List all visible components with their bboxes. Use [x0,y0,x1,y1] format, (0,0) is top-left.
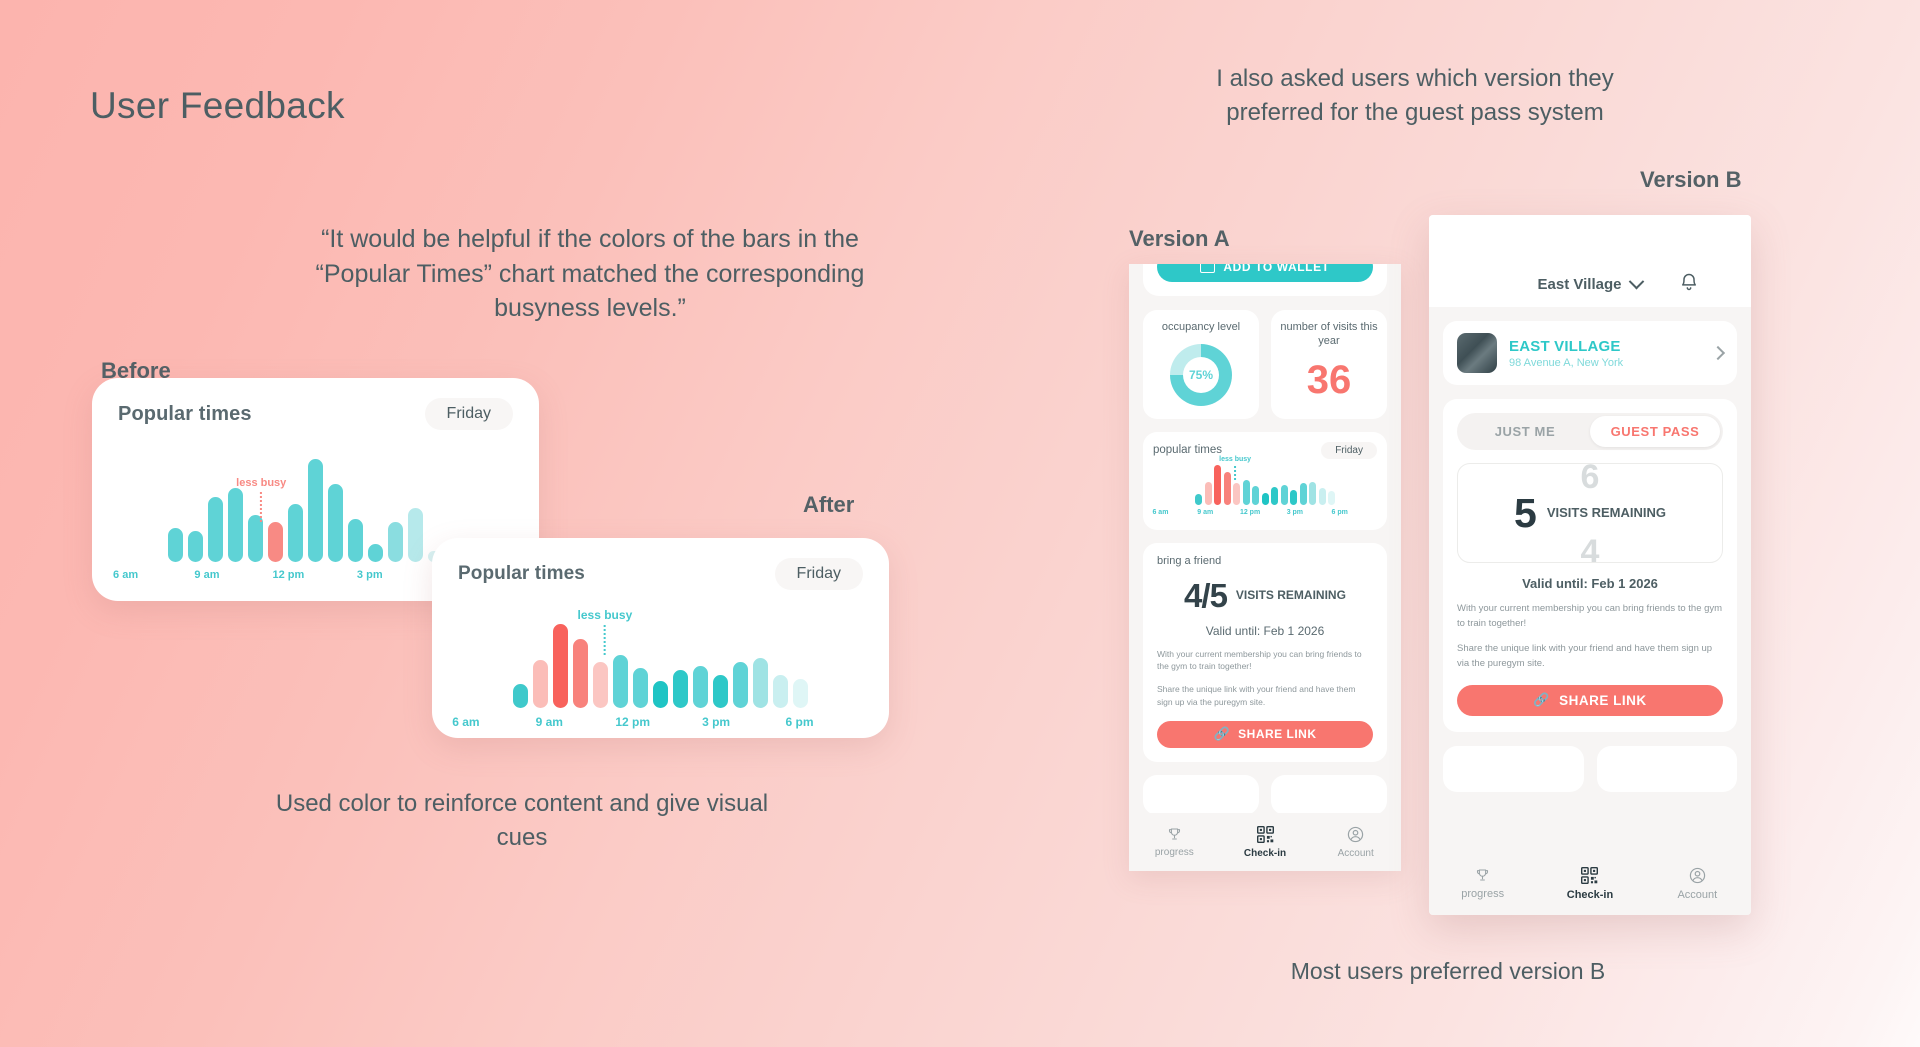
chart-bar [613,655,628,708]
tab-label: Account [1338,848,1374,859]
chart-bar [753,658,768,708]
version-a-screen: ADD TO WALLET occupancy level 75% number… [1129,264,1401,871]
bring-a-friend-caption: bring a friend [1157,555,1373,567]
visits-remaining-label: VISITS REMAINING [1547,506,1666,521]
chart-title: Popular times [458,563,585,585]
annotation-dashed-line [604,625,606,655]
page-title: User Feedback [90,85,345,127]
after-label: After [803,492,854,518]
picker-selected-value: 5 [1514,490,1536,537]
visits-value: 36 [1279,353,1379,407]
location-label: East Village [1538,276,1622,293]
version-a-tab-bar: progressCheck-inAccount [1129,813,1401,871]
chart-bar [533,660,548,708]
tab-item-account[interactable]: Account [1644,852,1751,915]
occupancy-value: 75% [1183,357,1219,393]
chart-bar [288,504,303,562]
annotation-label: less busy [1219,456,1251,463]
chart-bar [773,675,788,708]
chart-bar [1328,491,1335,505]
wallet-card: ADD TO WALLET [1143,264,1387,296]
tab-item-check-in[interactable]: Check-in [1536,852,1643,915]
less-busy-annotation: less busy [236,477,286,522]
axis-tick-label: 3 pm [1287,509,1303,516]
valid-until-text: Valid until: Feb 1 2026 [1457,576,1723,591]
qr-icon [1257,826,1274,843]
tab-item-progress[interactable]: progress [1429,852,1536,915]
chart-bar [408,508,423,562]
annotation-label: less busy [578,608,633,622]
guest-pass-card: JUST MEGUEST PASS 6 4 5 VISITS REMAINING… [1443,399,1737,732]
chart-bar [1300,483,1307,504]
visits-number-picker[interactable]: 6 4 5 VISITS REMAINING [1457,463,1723,563]
partial-card[interactable] [1597,746,1738,792]
axis-tick-label: 6 pm [785,715,813,729]
after-chart-card: Popular times Friday less busy 6 am9 am1… [432,538,889,738]
picker-value-above: 6 [1581,463,1600,497]
less-busy-annotation: less busy [578,608,633,655]
axis-tick-label: 9 am [1197,509,1213,516]
axis-tick-label: 12 pm [615,715,650,729]
popular-times-title: popular times [1153,444,1222,456]
axis-tick-label: 6 am [1152,509,1168,516]
trophy-icon [1475,867,1490,883]
body-text-1: With your current membership you can bri… [1157,648,1373,674]
annotation-label: less busy [236,477,286,489]
chart-bar [513,684,528,708]
axis-tick-label: 6 am [113,569,138,581]
chart-bar [1271,487,1278,504]
gym-info: EAST VILLAGE 98 Avenue A, New York [1509,338,1623,369]
annotation-dashed-line [260,492,262,522]
share-link-button[interactable]: 🔗 SHARE LINK [1457,685,1723,716]
bar-group [452,612,869,708]
picker-value-below: 4 [1581,533,1600,563]
chart-bar [248,515,263,562]
version-b-screen: East Village EAST VILLAGE 98 Avenue A, N… [1429,215,1751,915]
popular-times-card: popular times Friday less busy 6 am9 am1… [1143,432,1387,530]
chart-bar [1243,480,1250,505]
chart-bar [1281,485,1288,504]
chart-bar [593,662,608,708]
partial-card[interactable] [1143,775,1259,815]
partial-card[interactable] [1271,775,1387,815]
x-axis: 6 am9 am12 pm3 pm6 pm [452,715,869,731]
chevron-down-icon [1629,274,1645,290]
version-b-phone-mockup: East Village EAST VILLAGE 98 Avenue A, N… [1429,215,1751,915]
trophy-icon [1167,826,1182,842]
chart-bar [348,519,363,562]
tab-label: progress [1155,847,1194,858]
occupancy-donut-chart: 75% [1170,344,1232,406]
chart-bar [733,662,748,708]
link-icon: 🔗 [1213,726,1230,742]
axis-tick-label: 3 pm [702,715,730,729]
axis-tick-label: 3 pm [357,569,383,581]
chart-bar [713,675,728,708]
chart-bar [1262,493,1269,505]
chart-bar [1309,482,1316,505]
location-selector[interactable]: East Village [1538,276,1643,293]
add-to-wallet-button[interactable]: ADD TO WALLET [1157,264,1373,282]
chart-bar [1252,486,1259,504]
chart-bar [673,670,688,708]
visits-remaining-label: VISITS REMAINING [1236,589,1346,602]
tab-label: Check-in [1567,889,1613,901]
popular-times-header: popular times Friday [1153,442,1377,459]
chart-bar [633,668,648,708]
chart-bar [793,679,808,708]
chart-bar [168,528,183,562]
tab-item-progress[interactable]: progress [1129,813,1220,871]
chart-bar [388,522,403,562]
mini-chart-plot: less busy [1153,459,1377,505]
chart-bar [328,484,343,562]
tab-item-check-in[interactable]: Check-in [1220,813,1311,871]
chart-bar [308,459,323,562]
day-selector-pill[interactable]: Friday [775,558,863,590]
version-b-tab-bar: progressCheck-inAccount [1429,852,1751,915]
account-icon [1689,867,1706,884]
body-text-2: Share the unique link with your friend a… [1157,683,1373,709]
tab-label: Account [1677,889,1717,901]
chart-bar [693,666,708,708]
visits-remaining-row: 4/5 VISITS REMAINING [1157,577,1373,615]
less-busy-annotation: less busy [1219,456,1251,480]
chart-title: Popular times [118,403,252,426]
after-chart-plot: less busy [452,612,869,708]
occupancy-caption: occupancy level [1151,321,1251,335]
qr-icon [1581,867,1598,884]
valid-until-text: Valid until: Feb 1 2026 [1157,624,1373,638]
link-icon: 🔗 [1533,692,1550,708]
chart-bar [1205,482,1212,504]
partial-cards-row [1443,746,1737,792]
day-selector-pill[interactable]: Friday [425,398,513,430]
chart-bar [653,681,668,708]
share-link-button[interactable]: 🔗 SHARE LINK [1157,721,1373,748]
tab-label: progress [1461,888,1504,900]
wallet-icon [1200,264,1215,273]
axis-tick-label: 9 am [194,569,219,581]
axis-tick-label: 6 pm [1331,509,1347,516]
gym-name: EAST VILLAGE [1509,338,1623,355]
axis-tick-label: 9 am [536,715,563,729]
segment-just-me[interactable]: JUST ME [1460,416,1590,447]
pass-mode-segmented-control: JUST MEGUEST PASS [1457,413,1723,450]
account-icon [1347,826,1364,843]
version-a-phone-mockup: ADD TO WALLET occupancy level 75% number… [1129,264,1401,871]
chart-bar [188,531,203,562]
top-caption: I also asked users which version they pr… [1190,62,1640,130]
right-caption: Most users preferred version B [1278,958,1618,985]
bring-a-friend-card: bring a friend 4/5 VISITS REMAINING Vali… [1143,543,1387,762]
occupancy-tile[interactable]: occupancy level 75% [1143,310,1259,419]
chart-bar [368,544,383,562]
annotation-dashed-line [1234,466,1236,480]
stats-row: occupancy level 75% number of visits thi… [1143,310,1387,419]
chart-bar [553,624,568,708]
chart-bar [208,497,223,562]
gym-address: 98 Avenue A, New York [1509,357,1623,369]
partial-card[interactable] [1443,746,1584,792]
gym-card[interactable]: EAST VILLAGE 98 Avenue A, New York [1443,321,1737,385]
add-to-wallet-label: ADD TO WALLET [1223,264,1329,274]
chevron-right-icon [1711,346,1725,360]
version-b-label: Version B [1640,167,1741,193]
bell-icon[interactable] [1679,271,1699,293]
chart-bar [1233,483,1240,504]
share-link-label: SHARE LINK [1238,727,1316,741]
chart-bar [1195,494,1202,504]
visits-caption: number of visits this year [1279,321,1379,349]
tab-label: Check-in [1244,848,1286,859]
version-a-label: Version A [1129,226,1230,252]
gym-thumbnail-image [1457,333,1497,373]
body-text-2: Share the unique link with your friend a… [1457,642,1723,671]
chart-bar [1290,490,1297,505]
share-link-label: SHARE LINK [1559,693,1647,708]
chart-bar [268,522,283,562]
chart-bar [1319,488,1326,505]
user-quote: “It would be helpful if the colors of th… [300,222,880,326]
visits-tile[interactable]: number of visits this year 36 [1271,310,1387,419]
partial-cards-row [1143,775,1387,815]
body-text-1: With your current membership you can bri… [1457,602,1723,631]
segment-guest-pass[interactable]: GUEST PASS [1590,416,1720,447]
axis-tick-label: 12 pm [1240,509,1260,516]
axis-tick-label: 6 am [452,715,479,729]
day-selector-pill[interactable]: Friday [1321,442,1377,459]
axis-tick-label: 12 pm [272,569,304,581]
visits-count: 4/5 [1184,577,1227,615]
chart-header: Popular times Friday [92,378,539,430]
tab-item-account[interactable]: Account [1310,813,1401,871]
x-axis: 6 am9 am12 pm3 pm6 pm [1153,509,1377,521]
version-b-top-bar: East Village [1429,215,1751,307]
bar-group [1153,459,1377,505]
bottom-caption: Used color to reinforce content and give… [262,787,782,855]
chart-header: Popular times Friday [432,538,889,590]
